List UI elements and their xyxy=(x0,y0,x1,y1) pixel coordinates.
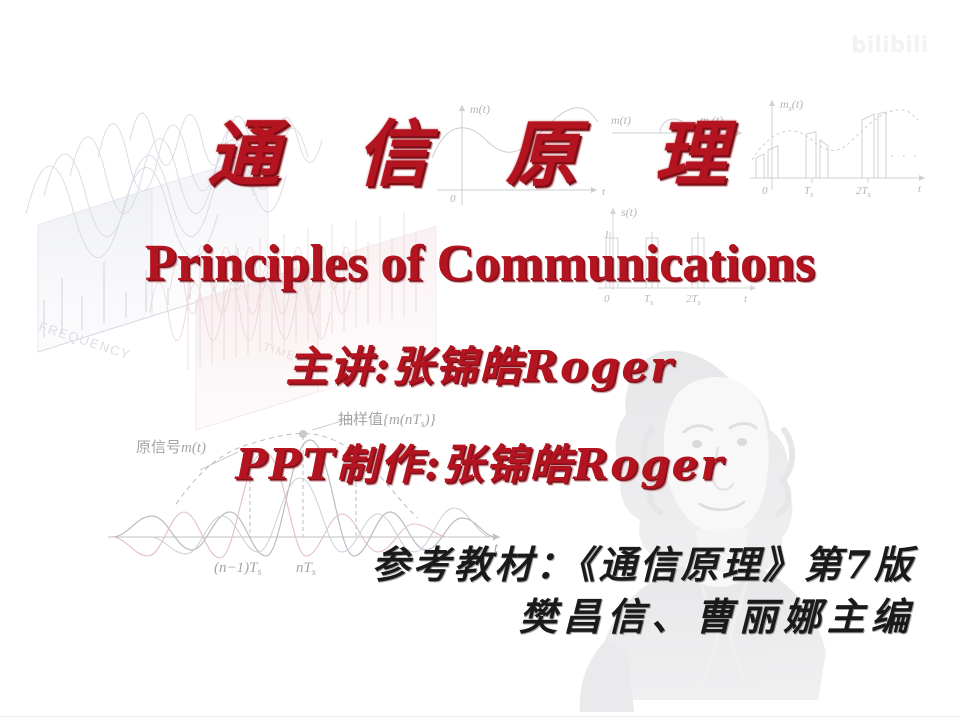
ppt-author-credit: PPT制作:张锦皓Roger xyxy=(0,444,960,486)
reference-authors-line: 樊昌信、曹丽娜主编 xyxy=(0,598,915,636)
reference-textbook-line: 参考教材：《通信原理》第7版 xyxy=(0,546,915,584)
slide-text-layer: 通 信 原 理 Principles of Communications 主讲:… xyxy=(0,0,960,720)
page-title-english: Principles of Communications xyxy=(0,238,960,290)
frame-bottom-edge xyxy=(0,716,960,717)
presentation-slide: FREQUENCY TIME m(t) 0 t m(t) m xyxy=(0,0,960,720)
presenter-credit: 主讲:张锦皓Roger xyxy=(0,346,960,388)
page-title-chinese: 通 信 原 理 xyxy=(0,118,960,190)
